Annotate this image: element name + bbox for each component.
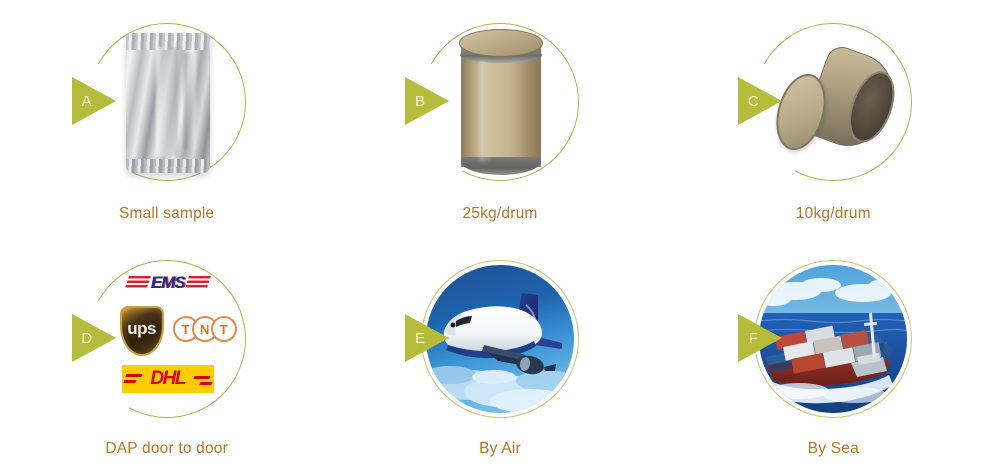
dhl-streak bbox=[125, 374, 142, 377]
ups-logo-text: ups bbox=[127, 319, 156, 339]
badge-arrow-f[interactable]: F bbox=[736, 310, 784, 366]
ems-logo-icon: EMS bbox=[127, 272, 209, 294]
badge-letter-b: B bbox=[403, 73, 437, 129]
ems-stripe-right bbox=[185, 276, 211, 288]
option-panel-a[interactable]: A Small sample bbox=[0, 0, 333, 237]
option-e-stage: E bbox=[405, 252, 595, 427]
badge-arrow-c[interactable]: C bbox=[736, 73, 784, 129]
dhl-logo-icon: DHL bbox=[122, 365, 214, 393]
drum-bottom-rim bbox=[461, 157, 541, 175]
option-b-caption: 25kg/drum bbox=[333, 205, 666, 223]
tnt-logo-icon: T N T bbox=[173, 316, 237, 342]
option-c-stage: C bbox=[738, 15, 928, 190]
option-d-stage: EMS ups T N T DHL bbox=[72, 252, 262, 427]
option-a-caption: Small sample bbox=[0, 205, 333, 223]
tilted-drum-opening bbox=[841, 65, 904, 148]
option-f-stage: F bbox=[738, 252, 928, 427]
badge-letter-c: C bbox=[736, 73, 770, 129]
option-panel-e[interactable]: E By Air bbox=[333, 237, 666, 473]
ems-stripe-left bbox=[125, 276, 151, 288]
dhl-streak bbox=[123, 380, 136, 383]
badge-letter-f: F bbox=[736, 310, 770, 366]
badge-arrow-b[interactable]: B bbox=[403, 73, 451, 129]
badge-arrow-e[interactable]: E bbox=[403, 310, 451, 366]
option-panel-b[interactable]: B 25kg/drum bbox=[333, 0, 666, 237]
ups-logo-icon: ups bbox=[120, 306, 164, 356]
option-a-stage: A bbox=[72, 15, 262, 190]
pouch-fold-highlight bbox=[156, 47, 178, 157]
pouch-fold-shadow bbox=[184, 53, 196, 149]
dhl-streak bbox=[199, 382, 212, 385]
foil-pouch-icon bbox=[126, 33, 210, 173]
option-c-caption: 10kg/drum bbox=[667, 205, 1000, 223]
fiber-drum-upright-icon bbox=[457, 29, 545, 177]
option-panel-d[interactable]: EMS ups T N T DHL bbox=[0, 237, 333, 473]
option-e-caption: By Air bbox=[333, 440, 666, 458]
option-panel-c[interactable]: C 10kg/drum bbox=[667, 0, 1000, 237]
option-b-stage: B bbox=[405, 15, 595, 190]
badge-arrow-d[interactable]: D bbox=[70, 310, 118, 366]
dhl-logo-text: DHL bbox=[150, 368, 185, 390]
fiber-drum-tilted-icon bbox=[778, 51, 894, 155]
badge-letter-a: A bbox=[70, 73, 104, 129]
drum-highlight bbox=[479, 61, 493, 161]
ems-logo-text: EMS bbox=[151, 273, 185, 293]
option-d-caption: DAP door to door bbox=[0, 440, 333, 458]
option-f-caption: By Sea bbox=[667, 440, 1000, 458]
tnt-letter-3: T bbox=[211, 316, 237, 342]
option-panel-f[interactable]: F By Sea bbox=[667, 237, 1000, 473]
packaging-options-grid: A Small sample B 25kg/drum bbox=[0, 0, 1000, 473]
dhl-streak bbox=[193, 376, 210, 379]
badge-letter-d: D bbox=[70, 310, 104, 366]
badge-arrow-a[interactable]: A bbox=[70, 73, 118, 129]
drum-lid bbox=[459, 29, 543, 57]
badge-letter-e: E bbox=[403, 310, 437, 366]
